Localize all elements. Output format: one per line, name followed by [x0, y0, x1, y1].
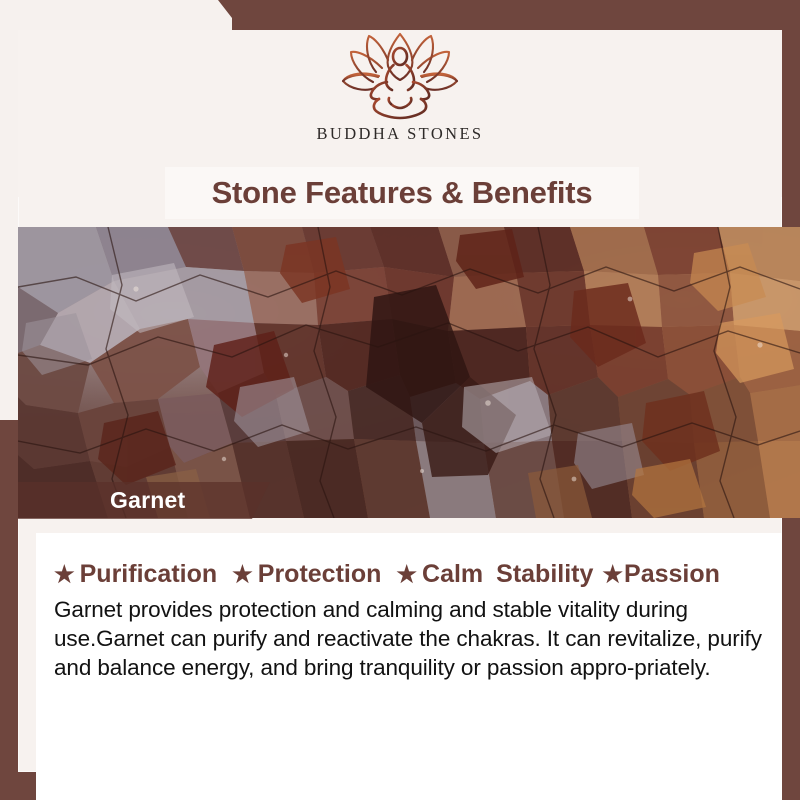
benefit-item-protection: ★ Protection — [232, 560, 381, 589]
poster-root: BUDDHA STONES Stone Features & Benefits — [0, 0, 800, 800]
content-card: BUDDHA STONES Stone Features & Benefits — [18, 30, 782, 772]
benefit-label: Purification — [80, 560, 218, 589]
star-icon: ★ — [396, 563, 417, 586]
garnet-rough-crystal-photo — [18, 227, 800, 518]
benefit-label: Passion — [624, 560, 720, 589]
star-icon: ★ — [232, 563, 253, 586]
benefit-label: Protection — [258, 560, 382, 589]
benefit-item-stability: ★ Stability — [496, 560, 593, 589]
star-icon: ★ — [54, 563, 75, 586]
benefit-item-calm: ★ Calm — [396, 560, 483, 589]
benefit-item-purification: ★ Purification — [54, 560, 217, 589]
stone-name-tag: Garnet — [18, 482, 270, 519]
description-panel: ★ Purification ★ Protection ★ Calm ★ Sta… — [36, 533, 782, 800]
lotus-meditation-icon — [334, 32, 466, 122]
benefits-list: ★ Purification ★ Protection ★ Calm ★ Sta… — [54, 560, 770, 589]
benefit-label: Stability — [496, 560, 593, 589]
section-title-band: Stone Features & Benefits — [165, 167, 639, 219]
frame-left-bar — [0, 420, 18, 800]
stone-name: Garnet — [110, 489, 185, 512]
brand-logo: BUDDHA STONES — [18, 32, 782, 144]
star-icon: ★ — [602, 563, 623, 586]
page-title: Stone Features & Benefits — [212, 175, 593, 211]
stone-description: Garnet provides protection and calming a… — [54, 595, 766, 682]
brand-name: BUDDHA STONES — [316, 124, 483, 144]
benefit-label: Calm — [422, 560, 483, 589]
benefit-item-passion: ★ Passion — [602, 560, 720, 589]
